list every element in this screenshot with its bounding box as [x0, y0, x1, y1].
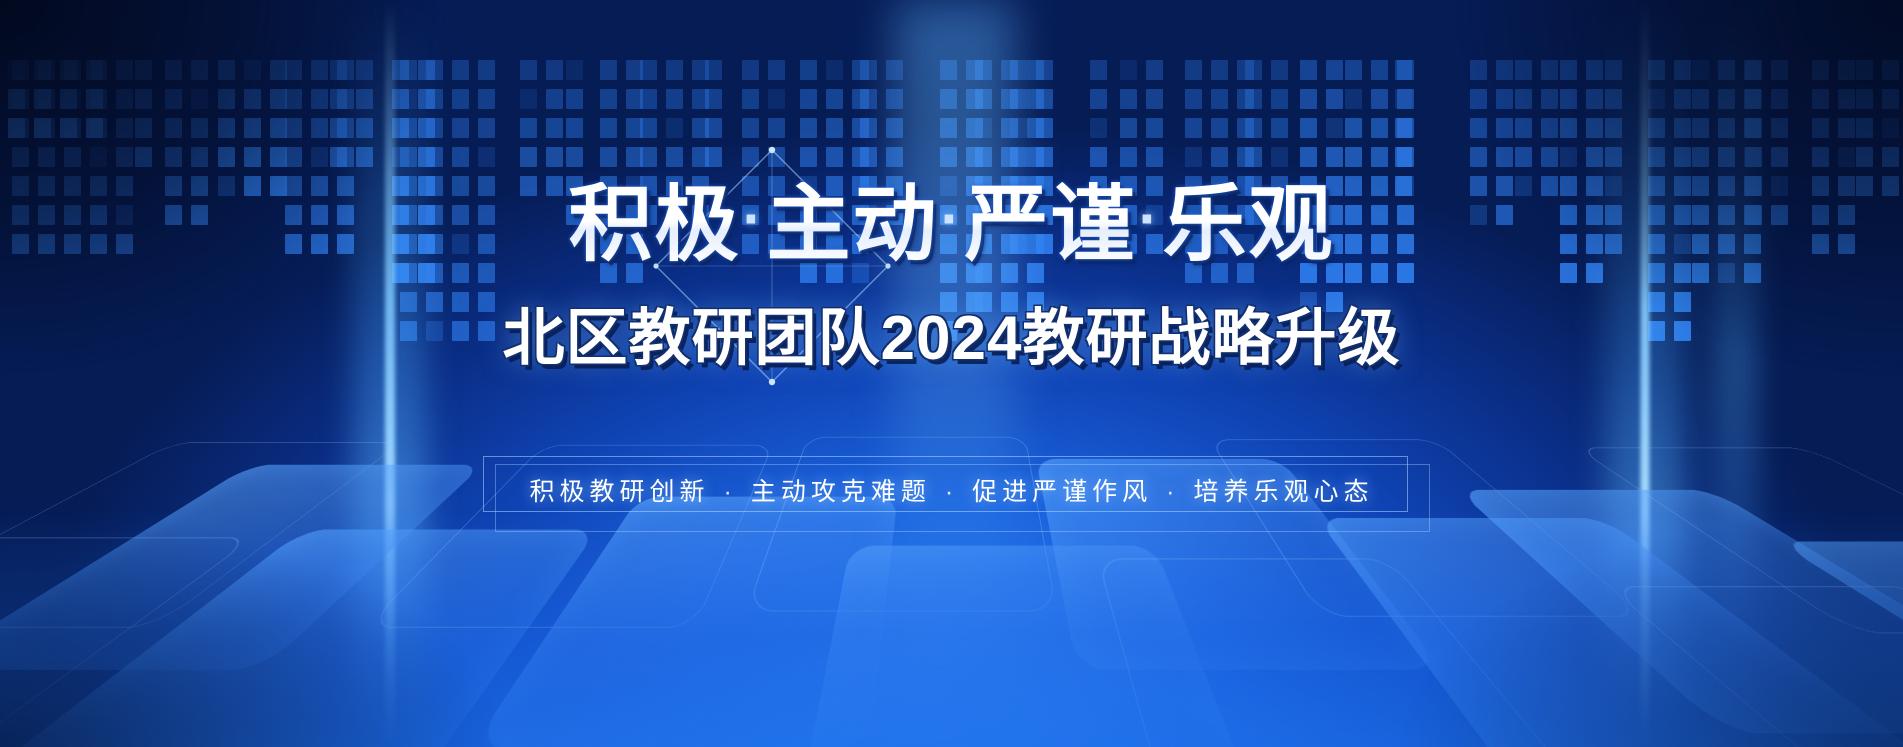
skyline-window-pixel	[1010, 89, 1027, 109]
skyline-window-pixel	[1090, 89, 1107, 109]
skyline-window-pixel	[600, 118, 617, 138]
skyline-window-pixel	[640, 60, 657, 80]
skyline-window-pixel	[940, 89, 957, 109]
skyline-window-pixel	[886, 89, 903, 109]
skyline-window-pixel	[1090, 118, 1107, 138]
skyline-window-pixel	[1271, 60, 1288, 80]
skyline-window-pixel	[1010, 147, 1027, 167]
skyline-window-pixel	[705, 60, 722, 80]
skyline-window-pixel	[975, 60, 992, 80]
skyline-window-pixel	[800, 60, 817, 80]
skyline-window-pixel	[1185, 118, 1202, 138]
skyline-window-pixel	[800, 118, 817, 138]
skyline-window-pixel	[1211, 118, 1228, 138]
skyline-window-pixel	[1090, 147, 1107, 167]
skyline-window-pixel	[666, 89, 683, 109]
skyline-window-pixel	[860, 118, 877, 138]
tagline-item: 促进严谨作风	[972, 478, 1152, 506]
skyline-window-pixel	[975, 147, 992, 167]
skyline-window-pixel	[940, 263, 957, 283]
skyline-window-pixel	[600, 60, 617, 80]
skyline-window-pixel	[742, 89, 759, 109]
skyline-window-pixel	[768, 60, 785, 80]
skyline-window-pixel	[1090, 60, 1107, 80]
skyline-window-pixel	[1326, 60, 1343, 80]
headline-separator: ·	[742, 189, 764, 249]
skyline-window-pixel	[1211, 147, 1228, 167]
skyline-window-pixel	[666, 60, 683, 80]
skyline-window-pixel	[1326, 89, 1343, 109]
skyline-window-pixel	[1146, 60, 1163, 80]
skyline-window-pixel	[1271, 89, 1288, 109]
skyline-window-pixel	[742, 60, 759, 80]
skyline-window-pixel	[1300, 118, 1317, 138]
skyline-window-pixel	[940, 147, 957, 167]
tagline-item: 主动攻克难题	[751, 478, 931, 506]
tagline-separator: ·	[1152, 478, 1193, 507]
tagline-frame: 积极教研创新·主动攻克难题·促进严谨作风·培养乐观心态	[483, 456, 1419, 524]
skyline-window-pixel	[886, 118, 903, 138]
headline-separator: ·	[1139, 189, 1161, 249]
banner-tagline: 积极教研创新·主动攻克难题·促进严谨作风·培养乐观心态	[529, 472, 1373, 508]
skyline-window-pixel	[886, 60, 903, 80]
tagline-container: 积极教研创新·主动攻克难题·促进严谨作风·培养乐观心态	[0, 456, 1903, 524]
skyline-window-pixel	[1245, 60, 1262, 80]
skyline-window-pixel	[640, 118, 657, 138]
skyline-window-pixel	[742, 118, 759, 138]
skyline-window-pixel	[566, 60, 583, 80]
skyline-window-pixel	[1326, 118, 1343, 138]
skyline-window-pixel	[1010, 60, 1027, 80]
tagline-item: 积极教研创新	[529, 478, 709, 506]
skyline-window-pixel	[566, 147, 583, 167]
skyline-window-pixel	[566, 89, 583, 109]
headline-word: 严谨	[963, 182, 1139, 266]
event-banner: 积极·主动·严谨·乐观 北区教研团队2024教研战略升级 积极教研创新·主动攻克…	[0, 0, 1903, 747]
skyline-window-pixel	[975, 89, 992, 109]
skyline-window-pixel	[600, 147, 617, 167]
banner-headline: 积极·主动·严谨·乐观	[0, 182, 1903, 266]
skyline-window-pixel	[860, 60, 877, 80]
skyline-window-pixel	[1271, 147, 1288, 167]
skyline-window-pixel	[566, 118, 583, 138]
skyline-window-pixel	[768, 118, 785, 138]
skyline-window-pixel	[1185, 89, 1202, 109]
skyline-window-pixel	[1120, 147, 1137, 167]
skyline-window-pixel	[1036, 147, 1053, 167]
skyline-window-pixel	[1185, 60, 1202, 80]
skyline-window-pixel	[1185, 147, 1202, 167]
skyline-window-pixel	[940, 60, 957, 80]
skyline-window-pixel	[640, 89, 657, 109]
tagline-item: 培养乐观心态	[1194, 478, 1374, 506]
skyline-window-pixel	[1300, 147, 1317, 167]
skyline-window-pixel	[1245, 147, 1262, 167]
skyline-window-pixel	[1326, 147, 1343, 167]
headline-word: 主动	[764, 182, 940, 266]
skyline-window-pixel	[1300, 89, 1317, 109]
skyline-window-pixel	[1120, 118, 1137, 138]
skyline-window-pixel	[826, 60, 843, 80]
skyline-window-pixel	[800, 89, 817, 109]
skyline-window-pixel	[666, 118, 683, 138]
skyline-window-pixel	[1146, 118, 1163, 138]
tagline-separator: ·	[709, 478, 750, 507]
skyline-window-pixel	[705, 89, 722, 109]
skyline-window-pixel	[1271, 118, 1288, 138]
skyline-window-pixel	[705, 118, 722, 138]
skyline-window-pixel	[1245, 89, 1262, 109]
skyline-window-pixel	[860, 89, 877, 109]
headline-separator: ·	[941, 189, 963, 249]
skyline-window-pixel	[1300, 60, 1317, 80]
skyline-window-pixel	[1146, 147, 1163, 167]
skyline-window-pixel	[768, 89, 785, 109]
tagline-separator: ·	[931, 478, 972, 507]
skyline-window-pixel	[1146, 89, 1163, 109]
headline-word: 乐观	[1161, 182, 1337, 266]
banner-subtitle: 北区教研团队2024教研战略升级	[0, 308, 1903, 370]
skyline-window-pixel	[1245, 118, 1262, 138]
skyline-window-pixel	[1211, 89, 1228, 109]
skyline-window-pixel	[600, 89, 617, 109]
skyline-window-pixel	[1010, 118, 1027, 138]
skyline-window-pixel	[1036, 89, 1053, 109]
headline-word: 积极	[566, 182, 742, 266]
skyline-window-pixel	[826, 89, 843, 109]
skyline-window-pixel	[1211, 60, 1228, 80]
skyline-window-pixel	[1120, 60, 1137, 80]
skyline-window-pixel	[1036, 118, 1053, 138]
skyline-window-pixel	[1036, 60, 1053, 80]
skyline-window-pixel	[975, 118, 992, 138]
skyline-window-pixel	[1120, 89, 1137, 109]
skyline-window-pixel	[826, 118, 843, 138]
skyline-window-pixel	[940, 118, 957, 138]
